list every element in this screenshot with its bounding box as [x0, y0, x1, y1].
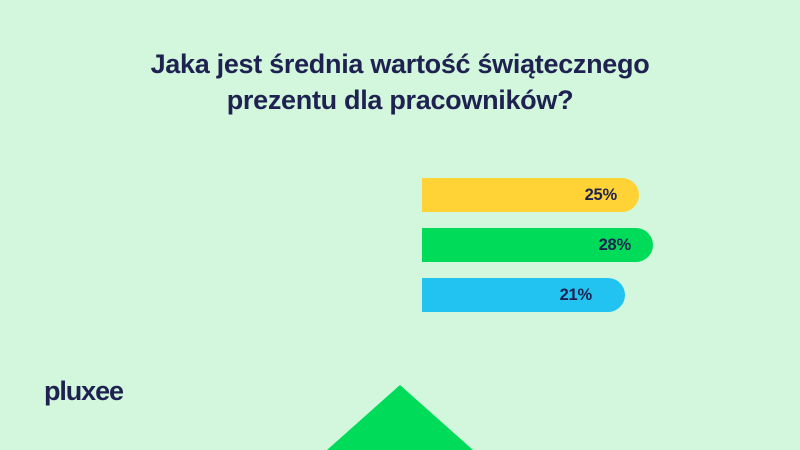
- bar-fill-blue: 21%: [422, 278, 625, 312]
- bar-value-label: 25%: [585, 178, 617, 212]
- bar-value-label: 28%: [599, 228, 631, 262]
- infographic-canvas: Jaka jest średnia wartość świątecznego p…: [0, 0, 800, 450]
- bar-track: 28%: [422, 228, 653, 262]
- page-title-line-2: prezentu dla pracowników?: [0, 82, 800, 118]
- page-title: Jaka jest średnia wartość świątecznego p…: [0, 46, 800, 118]
- pluxee-logo: pluxee: [44, 376, 123, 406]
- bar-track: 21%: [422, 278, 625, 312]
- bar-track: 25%: [422, 178, 639, 212]
- page-title-line-1: Jaka jest średnia wartość świątecznego: [0, 46, 800, 82]
- bar-fill-yellow: 25%: [422, 178, 639, 212]
- bar-fill-green: 28%: [422, 228, 653, 262]
- bar-value-label: 21%: [560, 278, 592, 312]
- triangle-decoration-icon: [310, 380, 500, 450]
